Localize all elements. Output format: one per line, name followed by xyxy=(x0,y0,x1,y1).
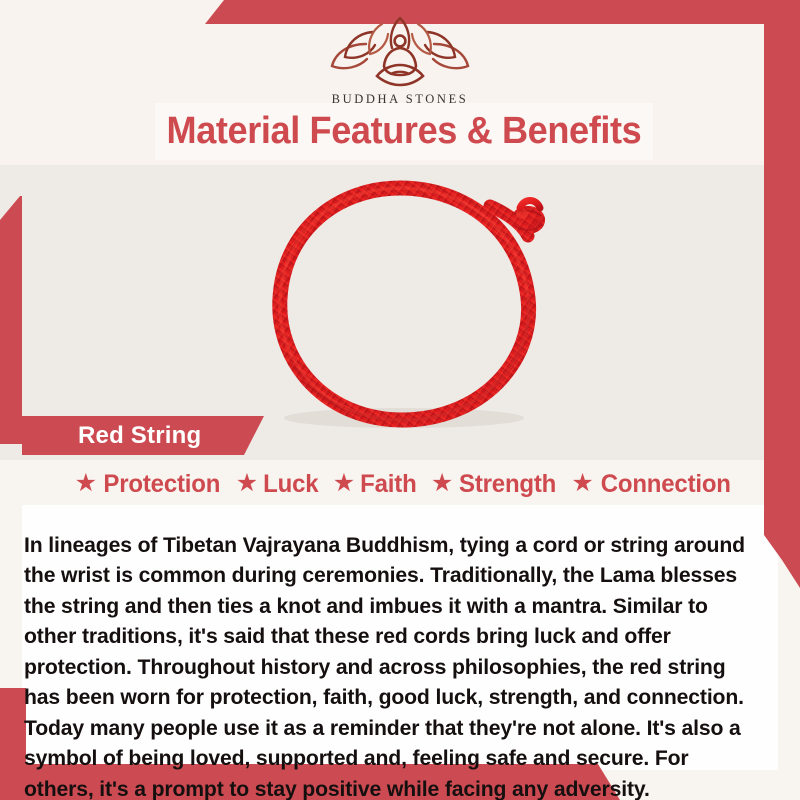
benefit-label: Luck xyxy=(263,470,318,499)
product-image-red-string-bracelet xyxy=(232,166,572,442)
benefit-label: Connection xyxy=(601,470,731,499)
infographic-poster: BUDDHA STONES Material Features & Benefi… xyxy=(0,0,800,800)
benefit-item-protection: ★ Protection xyxy=(70,470,228,499)
page-title: Material Features & Benefits xyxy=(167,110,642,153)
benefit-item-faith: ★ Faith xyxy=(328,470,423,499)
benefit-item-connection: ★ Connection xyxy=(566,470,738,499)
star-icon: ★ xyxy=(333,471,355,496)
section-ribbon-red-string: Red String xyxy=(22,416,264,455)
description-text: In lineages of Tibetan Vajrayana Buddhis… xyxy=(24,530,761,800)
benefit-label: Protection xyxy=(104,470,221,499)
section-ribbon-label: Red String xyxy=(78,422,201,450)
star-icon: ★ xyxy=(431,471,453,496)
benefit-label: Faith xyxy=(360,470,416,499)
benefits-list: ★ Protection ★ Luck ★ Faith ★ Strength ★… xyxy=(40,468,768,500)
benefit-item-luck: ★ Luck xyxy=(231,470,325,499)
star-icon: ★ xyxy=(75,471,97,496)
lotus-meditation-figure-icon xyxy=(325,14,475,90)
benefit-item-strength: ★ Strength xyxy=(426,470,564,499)
title-banner: Material Features & Benefits xyxy=(155,103,653,160)
benefit-label: Strength xyxy=(459,470,556,499)
brand-logo: BUDDHA STONES xyxy=(0,14,800,107)
star-icon: ★ xyxy=(571,471,593,496)
decor-frame-left-bar xyxy=(0,196,22,444)
star-icon: ★ xyxy=(236,471,258,496)
